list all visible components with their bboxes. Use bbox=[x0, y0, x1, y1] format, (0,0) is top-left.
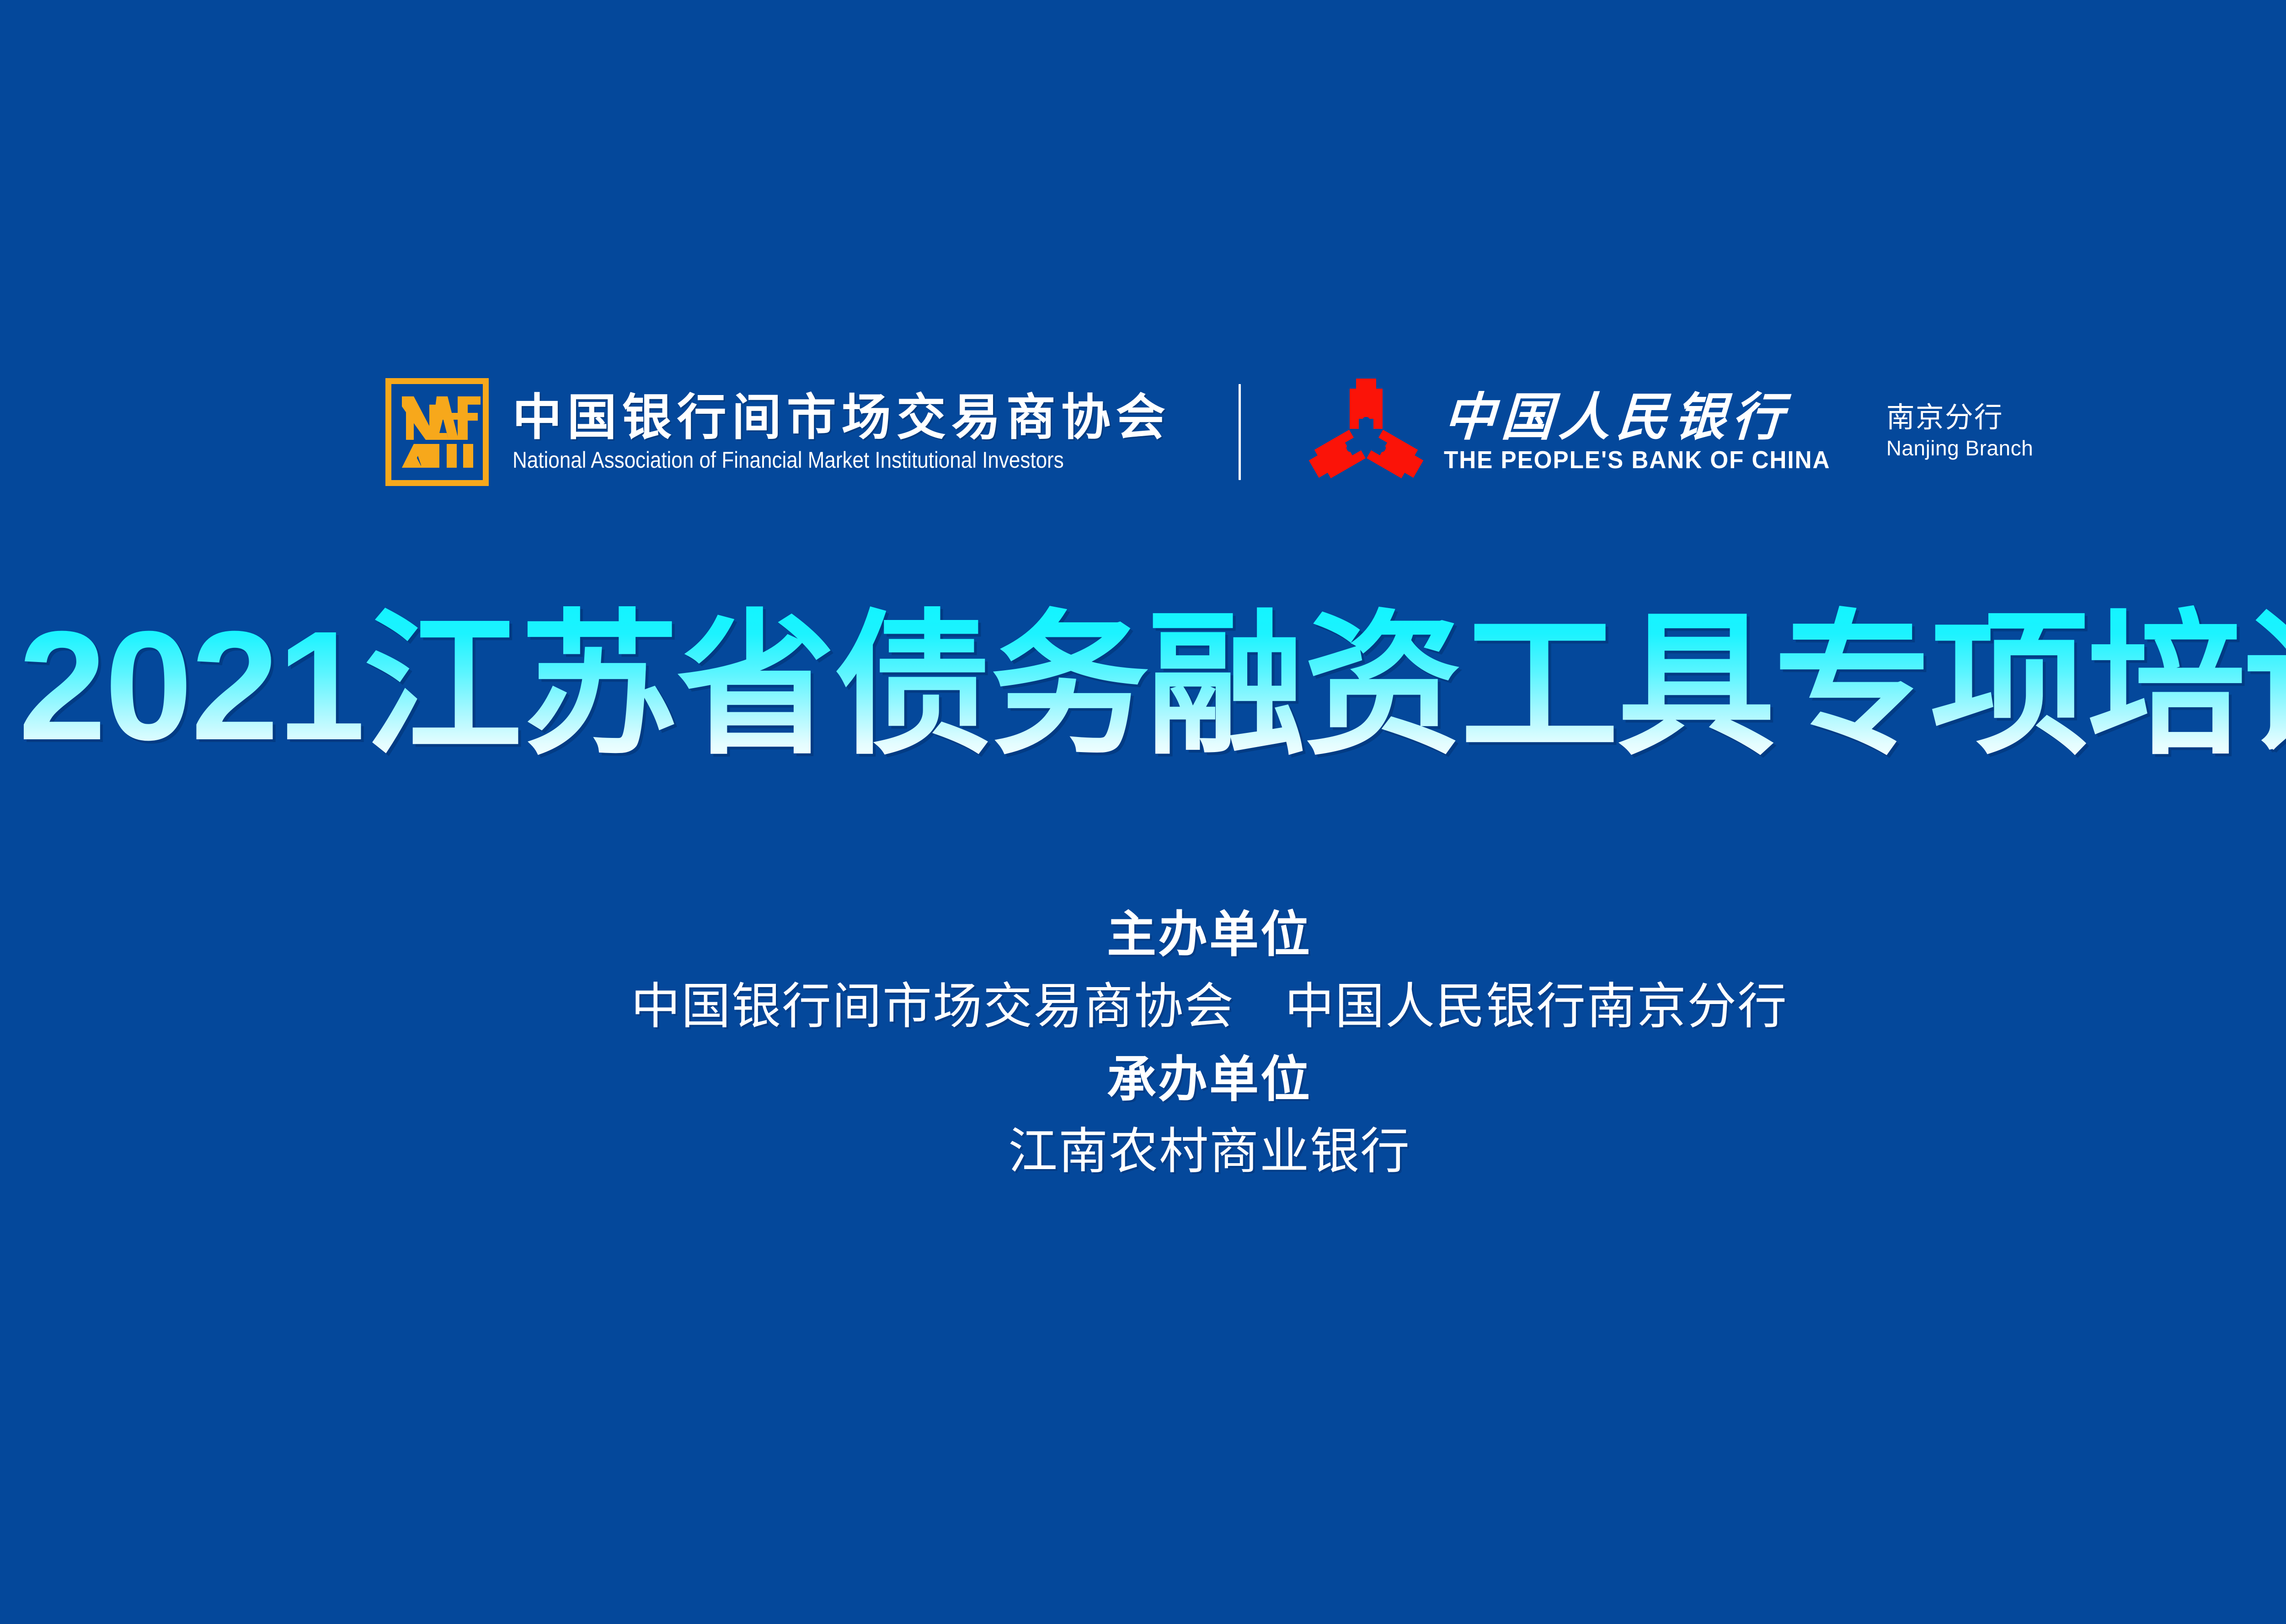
pboc-logo-lockup: 中国人民银行 THE PEOPLE'S BANK OF CHINA 南京分行 N… bbox=[1309, 375, 2033, 489]
pboc-branch-cn: 南京分行 bbox=[1886, 404, 2003, 432]
organizer-label: 承办单位 bbox=[1107, 1048, 1312, 1111]
host-names: 中国银行间市场交易商协会 中国人民银行南京分行 bbox=[631, 974, 1788, 1038]
organizer-names: 江南农村商业银行 bbox=[1008, 1119, 1410, 1183]
page-title: 2021江苏省债务融资工具专项培训 bbox=[18, 604, 2286, 768]
main-title: 2021江苏省债务融资工具专项培训 bbox=[0, 594, 2286, 777]
nafmii-monogram-logo bbox=[385, 378, 489, 486]
logo-divider bbox=[1239, 384, 1241, 480]
poster-canvas: 中国银行间市场交易商协会 National Association of Fin… bbox=[0, 0, 2286, 1624]
nafmii-name-block: 中国银行间市场交易商协会 National Association of Fin… bbox=[513, 393, 1171, 471]
logo-bar: 中国银行间市场交易商协会 National Association of Fin… bbox=[0, 366, 2286, 498]
organizer-block: 主办单位 中国银行间市场交易商协会 中国人民银行南京分行 承办单位 江南农村商业… bbox=[0, 903, 2286, 1183]
pboc-name-block: 中国人民银行 THE PEOPLE'S BANK OF CHINA bbox=[1444, 392, 1851, 472]
pboc-branch-en: Nanjing Branch bbox=[1886, 438, 2034, 459]
pboc-name-cn: 中国人民银行 bbox=[1442, 392, 1791, 443]
host-label: 主办单位 bbox=[1107, 903, 1312, 966]
pboc-name-en: THE PEOPLE'S BANK OF CHINA bbox=[1444, 448, 1830, 472]
nafmii-name-cn: 中国银行间市场交易商协会 bbox=[513, 393, 1171, 442]
nafmii-name-en: National Association of Financial Market… bbox=[513, 449, 1064, 471]
pboc-spade-coin-logo bbox=[1309, 375, 1424, 489]
pboc-branch-block: 南京分行 Nanjing Branch bbox=[1886, 404, 2034, 460]
nafmii-logo-lockup: 中国银行间市场交易商协会 National Association of Fin… bbox=[385, 378, 1171, 486]
